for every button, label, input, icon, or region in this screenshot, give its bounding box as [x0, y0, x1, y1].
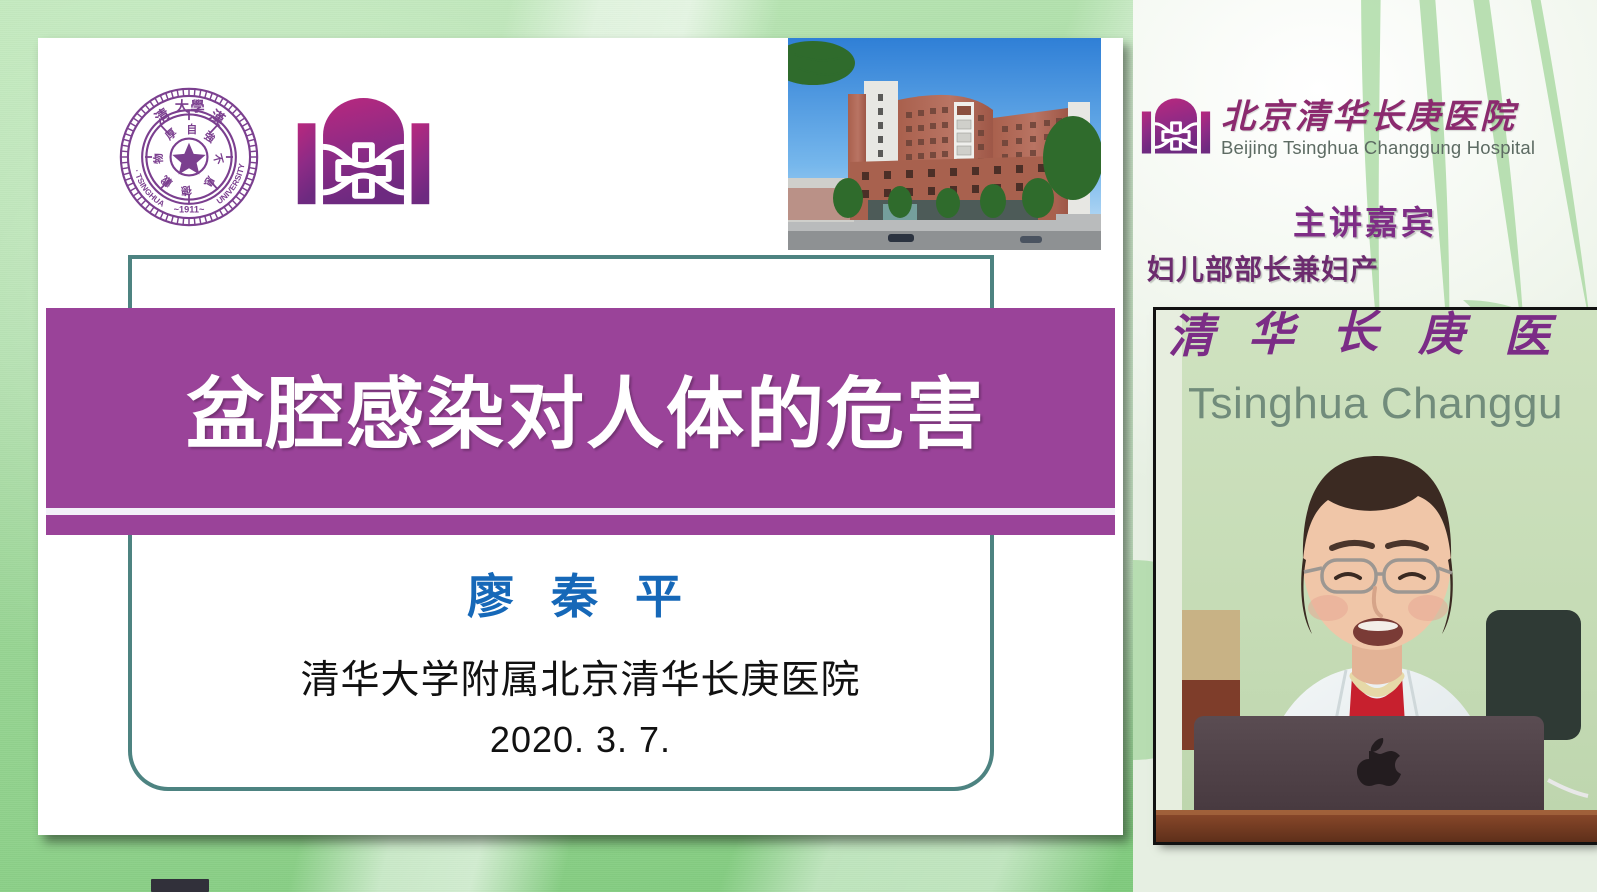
svg-text:Tsinghua Changgu: Tsinghua Changgu: [1188, 379, 1563, 428]
banner-accent-stripe: [46, 515, 1115, 535]
svg-text:厚: 厚: [164, 127, 180, 143]
guest-section-title: 主讲嘉宾: [1133, 196, 1597, 244]
svg-text:學: 學: [190, 100, 204, 116]
speaker-side-panel: 北京清华长庚医院 Beijing Tsinghua Changgung Hosp…: [1133, 0, 1597, 892]
speaker-name: 廖 秦 平: [38, 568, 1123, 627]
hospital-building-photo: [788, 38, 1101, 250]
banner-divider-gap: [46, 508, 1115, 515]
slide-logo-row: 清 大 學 漢 厚 自 強 不 息 德 載 物 ·: [118, 86, 431, 228]
presentation-date: 2020. 3. 7.: [38, 719, 1123, 761]
player-control-chip[interactable]: [151, 879, 209, 892]
hospital-gate-cross-icon: [1141, 98, 1211, 160]
svg-text:強: 強: [201, 129, 218, 146]
hospital-name-cn: 北京清华长庚医院: [1221, 101, 1535, 135]
page-title: 盆腔感染对人体的危害: [186, 352, 986, 464]
svg-text:长: 长: [1332, 310, 1382, 358]
svg-text:~1911~: ~1911~: [174, 204, 205, 214]
guest-role-text: 妇儿部部长兼妇产: [1147, 248, 1379, 288]
presentation-slide[interactable]: 清 大 學 漢 厚 自 強 不 息 德 載 物 ·: [38, 38, 1123, 835]
svg-text:医: 医: [1504, 311, 1557, 362]
svg-text:德: 德: [180, 183, 192, 197]
svg-text:物: 物: [152, 153, 165, 164]
hospital-gate-cross-icon: [296, 98, 431, 216]
svg-text:华: 华: [1248, 310, 1300, 360]
svg-text:清: 清: [1168, 311, 1220, 362]
svg-text:庚: 庚: [1417, 310, 1472, 360]
hospital-brand-lockup: 北京清华长庚医院 Beijing Tsinghua Changgung Hosp…: [1141, 98, 1597, 160]
speaker-affiliation: 清华大学附属北京清华长庚医院: [38, 649, 1123, 705]
hospital-brand-names: 北京清华长庚医院 Beijing Tsinghua Changgung Hosp…: [1221, 101, 1535, 158]
svg-text:大: 大: [175, 99, 190, 116]
slide-title-banner: 盆腔感染对人体的危害: [46, 308, 1115, 508]
svg-text:載: 載: [158, 172, 175, 189]
speaker-info-block: 廖 秦 平 清华大学附属北京清华长庚医院 2020. 3. 7.: [38, 568, 1123, 761]
tsinghua-university-seal-icon: 清 大 學 漢 厚 自 強 不 息 德 載 物 ·: [118, 86, 260, 228]
webinar-screen: 清 大 學 漢 厚 自 強 不 息 德 載 物 ·: [0, 0, 1597, 892]
speaker-video-feed[interactable]: 清 华 长 庚 医 Tsinghua Changgu: [1156, 310, 1597, 842]
hospital-name-en: Beijing Tsinghua Changgung Hospital: [1221, 139, 1535, 158]
svg-text:自: 自: [187, 123, 198, 136]
svg-text:不: 不: [210, 152, 224, 166]
